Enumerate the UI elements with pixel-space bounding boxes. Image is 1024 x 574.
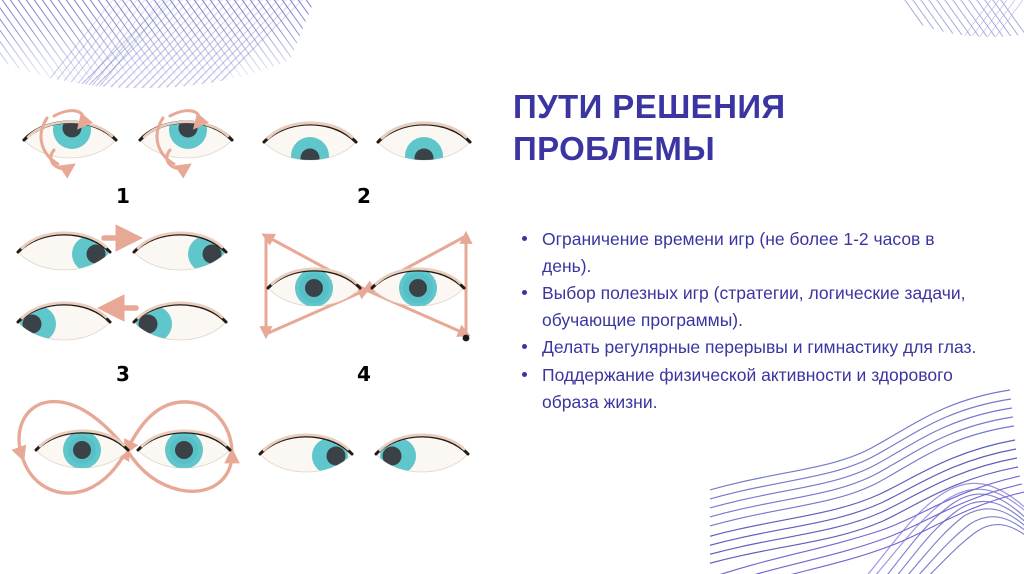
- list-item-text: Ограничение времени игр (не более 1-2 ча…: [542, 229, 935, 276]
- hatch-pattern-top-right-icon: [864, 0, 1024, 72]
- eye-exercise-look-outward-icon: [256, 424, 472, 494]
- exercise-number-3: 3: [116, 362, 130, 386]
- list-item: Ограничение времени игр (не более 1-2 ча…: [516, 226, 986, 279]
- solutions-bullet-list: Ограничение времени игр (не более 1-2 ча…: [516, 226, 986, 416]
- list-item: Поддержание физической активности и здор…: [516, 362, 986, 415]
- bullet-dot-icon: [522, 290, 527, 295]
- list-item-text: Выбор полезных игр (стратегии, логически…: [542, 283, 966, 330]
- exercise-number-4: 4: [357, 362, 371, 386]
- list-item-text: Поддержание физической активности и здор…: [542, 365, 953, 412]
- slide-canvas: ПУТИ РЕШЕНИЯ ПРОБЛЕМЫ Ограничение времен…: [0, 0, 1024, 574]
- page-title-line-2: ПРОБЛЕМЫ: [513, 128, 983, 170]
- page-title: ПУТИ РЕШЕНИЯ ПРОБЛЕМЫ: [513, 86, 983, 170]
- path-end-dot-icon: [463, 335, 470, 342]
- list-item: Делать регулярные перерывы и гимнастику …: [516, 334, 986, 361]
- bullet-dot-icon: [522, 236, 527, 241]
- bullet-dot-icon: [522, 372, 527, 377]
- hatch-pattern-top-left-icon: [0, 0, 320, 96]
- list-item: Выбор полезных игр (стратегии, логически…: [516, 280, 986, 333]
- eye-exercise-look-up-rotate-icon: [14, 104, 240, 186]
- eye-exercise-bowtie-path-icon: [252, 228, 480, 358]
- list-item-text: Делать регулярные перерывы и гимнастику …: [542, 337, 976, 357]
- eye-exercise-look-down-icon: [258, 104, 476, 186]
- eye-exercise-look-right-left-icon: [14, 222, 246, 358]
- bullet-dot-icon: [522, 344, 527, 349]
- eye-exercise-figure-eight-path-icon: [2, 392, 252, 512]
- exercise-number-2: 2: [357, 184, 371, 208]
- exercise-number-1: 1: [116, 184, 130, 208]
- page-title-line-1: ПУТИ РЕШЕНИЯ: [513, 86, 983, 128]
